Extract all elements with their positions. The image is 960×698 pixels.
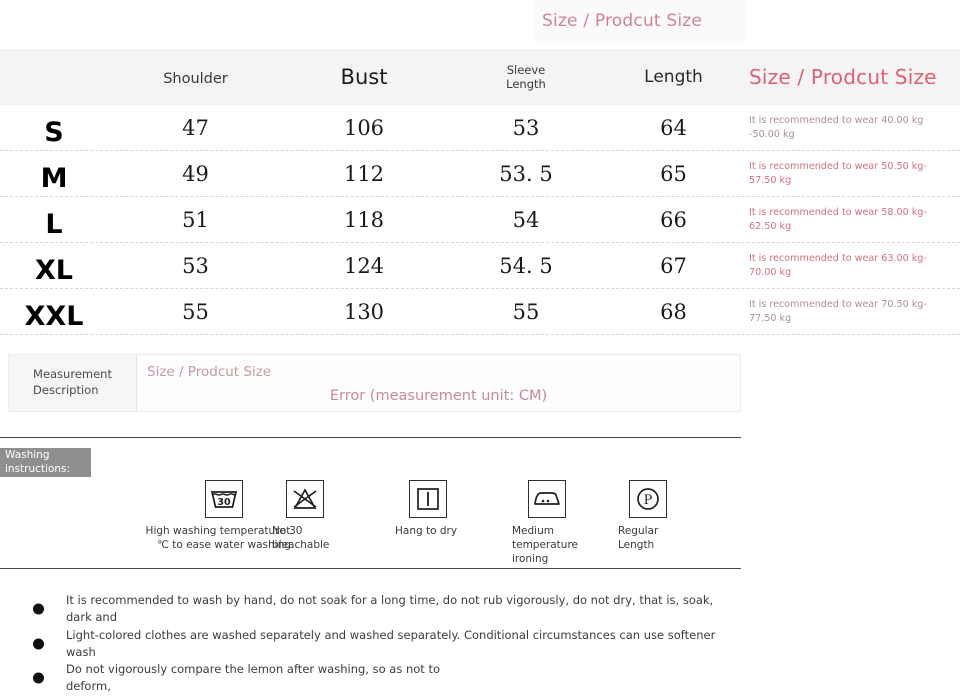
cell-bust: 130 bbox=[283, 300, 445, 324]
care-icon-caption: Medium temperature ironing bbox=[512, 524, 582, 567]
measurement-size-text: Size / Prodcut Size bbox=[147, 364, 271, 380]
care-icon-item-bleach: Not bleachable bbox=[272, 480, 338, 552]
cell-recommendation: It is recommended to wear 50.50 kg-57.50… bbox=[740, 160, 960, 188]
cell-shoulder: 47 bbox=[108, 116, 283, 140]
measurement-label-cell: Measurement Description bbox=[9, 355, 137, 411]
divider-bottom bbox=[0, 568, 741, 569]
notes-list: It is recommended to wash by hand, do no… bbox=[0, 592, 741, 696]
note-text: It is recommended to wash by hand, do no… bbox=[66, 592, 741, 627]
cell-shoulder: 51 bbox=[108, 208, 283, 232]
cell-size: M bbox=[0, 160, 108, 187]
bullet-dot-icon bbox=[33, 673, 44, 684]
cell-sleeve-length: 54 bbox=[445, 208, 607, 232]
cell-sleeve-length: 53 bbox=[445, 116, 607, 140]
header-sleeve-length-line2: Length bbox=[445, 77, 607, 91]
cell-length: 67 bbox=[607, 254, 740, 278]
cell-shoulder: 53 bbox=[108, 254, 283, 278]
care-icon-item-dry: Hang to dry bbox=[395, 480, 461, 538]
cell-sleeve-length: 54. 5 bbox=[445, 254, 607, 278]
svg-text:30: 30 bbox=[217, 497, 231, 508]
bullet-dot-icon bbox=[33, 638, 44, 649]
cell-recommendation: It is recommended to wear 40.00 kg -50.0… bbox=[740, 114, 960, 142]
table-row: XL 53 124 54. 5 67 It is recommended to … bbox=[0, 243, 960, 289]
iron-medium-icon bbox=[528, 480, 566, 518]
cell-bust: 106 bbox=[283, 116, 445, 140]
cell-length: 68 bbox=[607, 300, 740, 324]
cell-length: 64 bbox=[607, 116, 740, 140]
table-header-row: Shoulder Bust Sleeve Length Length Size … bbox=[0, 49, 960, 105]
care-icon-item-length: P Regular Length bbox=[618, 480, 678, 552]
header-bust: Bust bbox=[283, 65, 445, 89]
table-row: L 51 118 54 66 It is recommended to wear… bbox=[0, 197, 960, 243]
wash-tub-30-icon: 30 bbox=[205, 480, 243, 518]
note-text: Light-colored clothes are washed separat… bbox=[66, 627, 741, 662]
table-row: S 47 106 53 64 It is recommended to wear… bbox=[0, 105, 960, 151]
measurement-label-line1: Measurement bbox=[33, 367, 112, 383]
care-icons-row: 30 High washing temperature 30 ℃ to ease… bbox=[0, 480, 741, 560]
washing-instructions-badge: Washing instructions: bbox=[0, 448, 91, 477]
top-banner: Size / Prodcut Size bbox=[533, 0, 746, 41]
regular-length-p-icon: P bbox=[629, 480, 667, 518]
table-row: XXL 55 130 55 68 It is recommended to we… bbox=[0, 289, 960, 335]
svg-text:P: P bbox=[644, 493, 653, 508]
no-bleach-icon bbox=[286, 480, 324, 518]
size-chart-page: Size / Prodcut Size Shoulder Bust Sleeve… bbox=[0, 0, 960, 698]
note-text: Do not vigorously compare the lemon afte… bbox=[66, 661, 486, 696]
cell-bust: 112 bbox=[283, 162, 445, 186]
bullet-dot-icon bbox=[33, 604, 44, 615]
cell-bust: 124 bbox=[283, 254, 445, 278]
list-item: Do not vigorously compare the lemon afte… bbox=[0, 661, 741, 696]
list-item: It is recommended to wash by hand, do no… bbox=[0, 592, 741, 627]
hang-to-dry-icon bbox=[409, 480, 447, 518]
cell-length: 65 bbox=[607, 162, 740, 186]
cell-shoulder: 49 bbox=[108, 162, 283, 186]
cell-size: XXL bbox=[0, 298, 108, 325]
divider-top bbox=[0, 437, 741, 438]
header-shoulder: Shoulder bbox=[108, 68, 283, 87]
header-sleeve-length: Sleeve Length bbox=[445, 63, 607, 92]
care-icon-caption: Regular Length bbox=[618, 524, 678, 552]
header-length: Length bbox=[607, 67, 740, 87]
cell-sleeve-length: 53. 5 bbox=[445, 162, 607, 186]
care-icon-caption: Not bleachable bbox=[272, 524, 338, 552]
cell-size: L bbox=[0, 206, 108, 233]
cell-sleeve-length: 55 bbox=[445, 300, 607, 324]
list-item: Light-colored clothes are washed separat… bbox=[0, 627, 741, 662]
washing-badge-line1: Washing bbox=[5, 449, 70, 463]
cell-recommendation: It is recommended to wear 63.00 kg-70.00… bbox=[740, 252, 960, 280]
table-row: M 49 112 53. 5 65 It is recommended to w… bbox=[0, 151, 960, 197]
care-icon-caption: Hang to dry bbox=[395, 524, 457, 538]
size-table: Shoulder Bust Sleeve Length Length Size … bbox=[0, 49, 960, 335]
cell-bust: 118 bbox=[283, 208, 445, 232]
care-icon-item-iron: Medium temperature ironing bbox=[512, 480, 582, 567]
cell-recommendation: It is recommended to wear 58.00 kg-62.50… bbox=[740, 206, 960, 234]
measurement-description-box: Measurement Description Size / Prodcut S… bbox=[8, 354, 741, 412]
measurement-error-text: Error (measurement unit: CM) bbox=[137, 388, 740, 404]
cell-length: 66 bbox=[607, 208, 740, 232]
cell-size: XL bbox=[0, 252, 108, 279]
top-banner-text: Size / Prodcut Size bbox=[533, 11, 702, 31]
measurement-label-line2: Description bbox=[33, 383, 112, 399]
header-recommendation: Size / Prodcut Size bbox=[740, 65, 960, 89]
washing-badge-line2: instructions: bbox=[5, 463, 70, 477]
measurement-body: Size / Prodcut Size Error (measurement u… bbox=[137, 355, 740, 411]
cell-size: S bbox=[0, 114, 108, 141]
header-sleeve-length-line1: Sleeve bbox=[445, 63, 607, 77]
cell-recommendation: It is recommended to wear 70.50 kg-77.50… bbox=[740, 298, 960, 326]
cell-shoulder: 55 bbox=[108, 300, 283, 324]
